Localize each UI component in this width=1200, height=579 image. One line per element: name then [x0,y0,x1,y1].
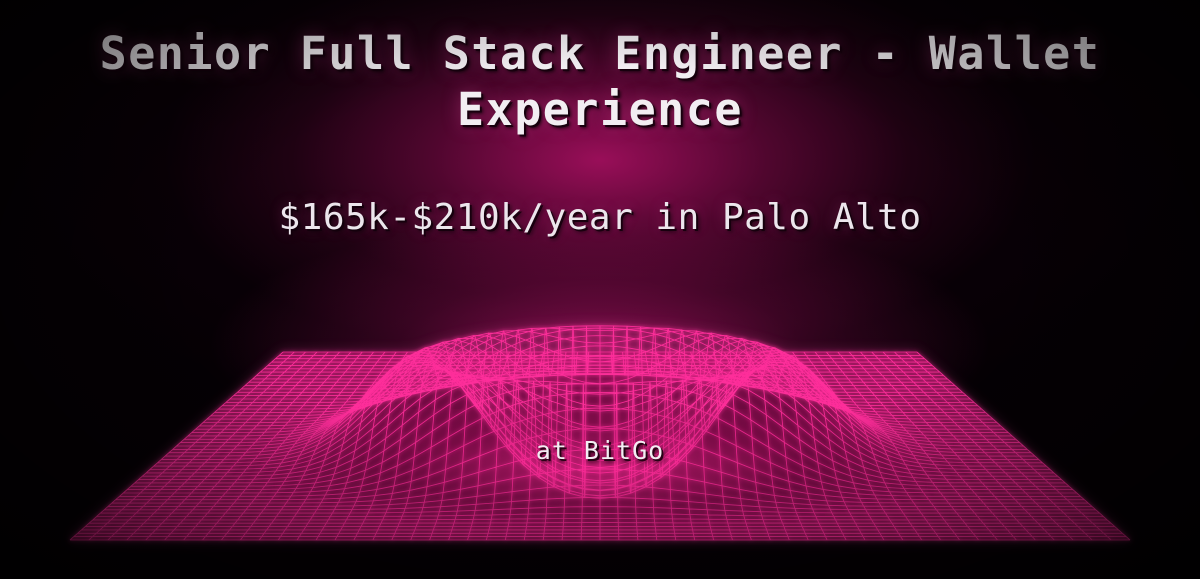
compensation-line: $165k-$210k/year in Palo Alto [0,196,1200,240]
text-layer: Senior Full Stack Engineer - Wallet Expe… [0,0,1200,579]
company-line: at BitGo [0,436,1200,466]
page-title: Senior Full Stack Engineer - Wallet Expe… [0,26,1200,138]
job-posting-card: Senior Full Stack Engineer - Wallet Expe… [0,0,1200,579]
